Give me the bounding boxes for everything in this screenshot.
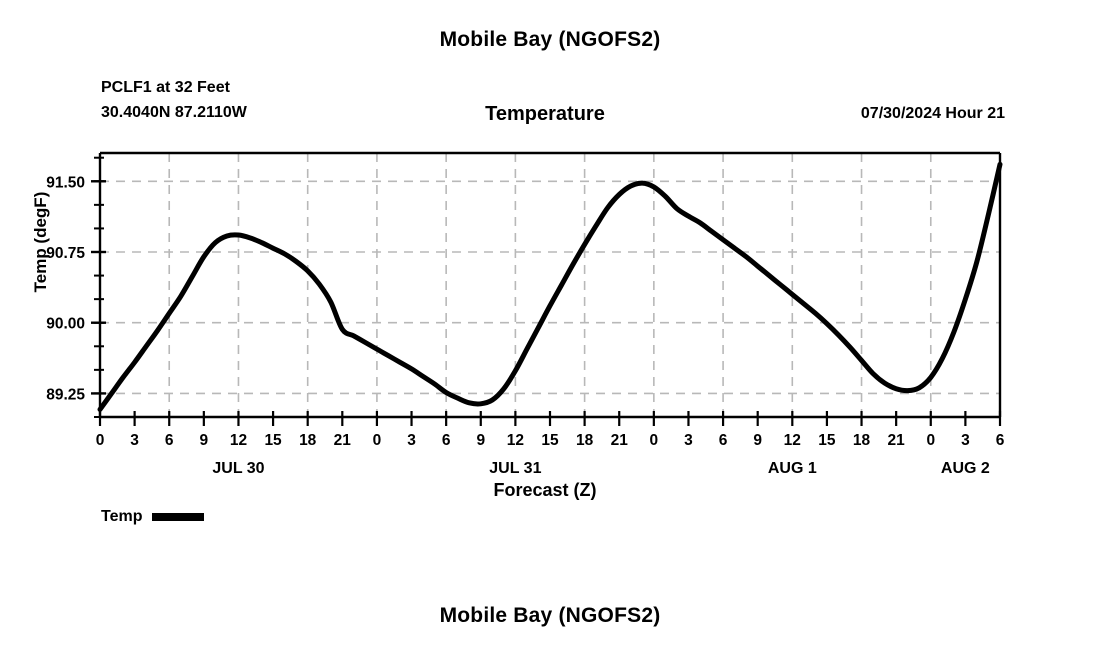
x-tick-label: 3 — [684, 432, 693, 449]
x-tick-label: 0 — [926, 432, 935, 449]
y-tick-label: 89.25 — [46, 386, 85, 403]
x-tick-label: 12 — [784, 432, 801, 449]
y-tick-label: 90.75 — [46, 245, 85, 262]
x-tick-label: 0 — [373, 432, 382, 449]
x-tick-label: 0 — [650, 432, 659, 449]
x-tick-label: 21 — [334, 432, 352, 449]
x-axis-day-label: AUG 1 — [768, 460, 817, 477]
x-tick-label: 15 — [818, 432, 836, 449]
x-tick-label: 6 — [442, 432, 451, 449]
x-tick-label: 18 — [299, 432, 317, 449]
temperature-line-chart: 89.2590.0090.7591.5003691215182103691215… — [0, 0, 1100, 650]
x-tick-label: 12 — [230, 432, 247, 449]
x-tick-label: 21 — [888, 432, 906, 449]
x-tick-label: 18 — [576, 432, 594, 449]
y-tick-label: 90.00 — [46, 316, 85, 333]
x-axis-label: Forecast (Z) — [0, 480, 1090, 501]
x-tick-label: 3 — [130, 432, 139, 449]
x-tick-label: 0 — [96, 432, 105, 449]
data-line-temp — [100, 164, 1000, 409]
x-tick-label: 15 — [541, 432, 559, 449]
x-tick-label: 6 — [165, 432, 174, 449]
chart-legend: Temp — [101, 508, 204, 526]
x-axis-day-label: JUL 31 — [489, 460, 541, 477]
x-tick-label: 9 — [753, 432, 762, 449]
x-tick-label: 6 — [719, 432, 728, 449]
x-tick-label: 3 — [407, 432, 416, 449]
chart-page: Mobile Bay (NGOFS2) PCLF1 at 32 Feet 30.… — [0, 0, 1100, 650]
x-axis-day-label: JUL 30 — [212, 460, 264, 477]
x-tick-label: 21 — [611, 432, 629, 449]
x-tick-label: 15 — [264, 432, 282, 449]
x-tick-label: 12 — [507, 432, 524, 449]
x-axis-day-label: AUG 2 — [941, 460, 990, 477]
y-tick-label: 91.50 — [46, 174, 85, 191]
x-tick-label: 18 — [853, 432, 871, 449]
legend-swatch-temp — [152, 513, 204, 521]
page-title-bottom: Mobile Bay (NGOFS2) — [0, 604, 1100, 628]
x-tick-label: 3 — [961, 432, 970, 449]
x-tick-label: 9 — [200, 432, 209, 449]
x-tick-label: 6 — [996, 432, 1005, 449]
y-axis-label: Temp (degF) — [31, 162, 51, 322]
plot-area: 89.2590.0090.7591.5003691215182103691215… — [0, 0, 1100, 650]
legend-label-temp: Temp — [101, 508, 142, 526]
x-tick-label: 9 — [476, 432, 485, 449]
